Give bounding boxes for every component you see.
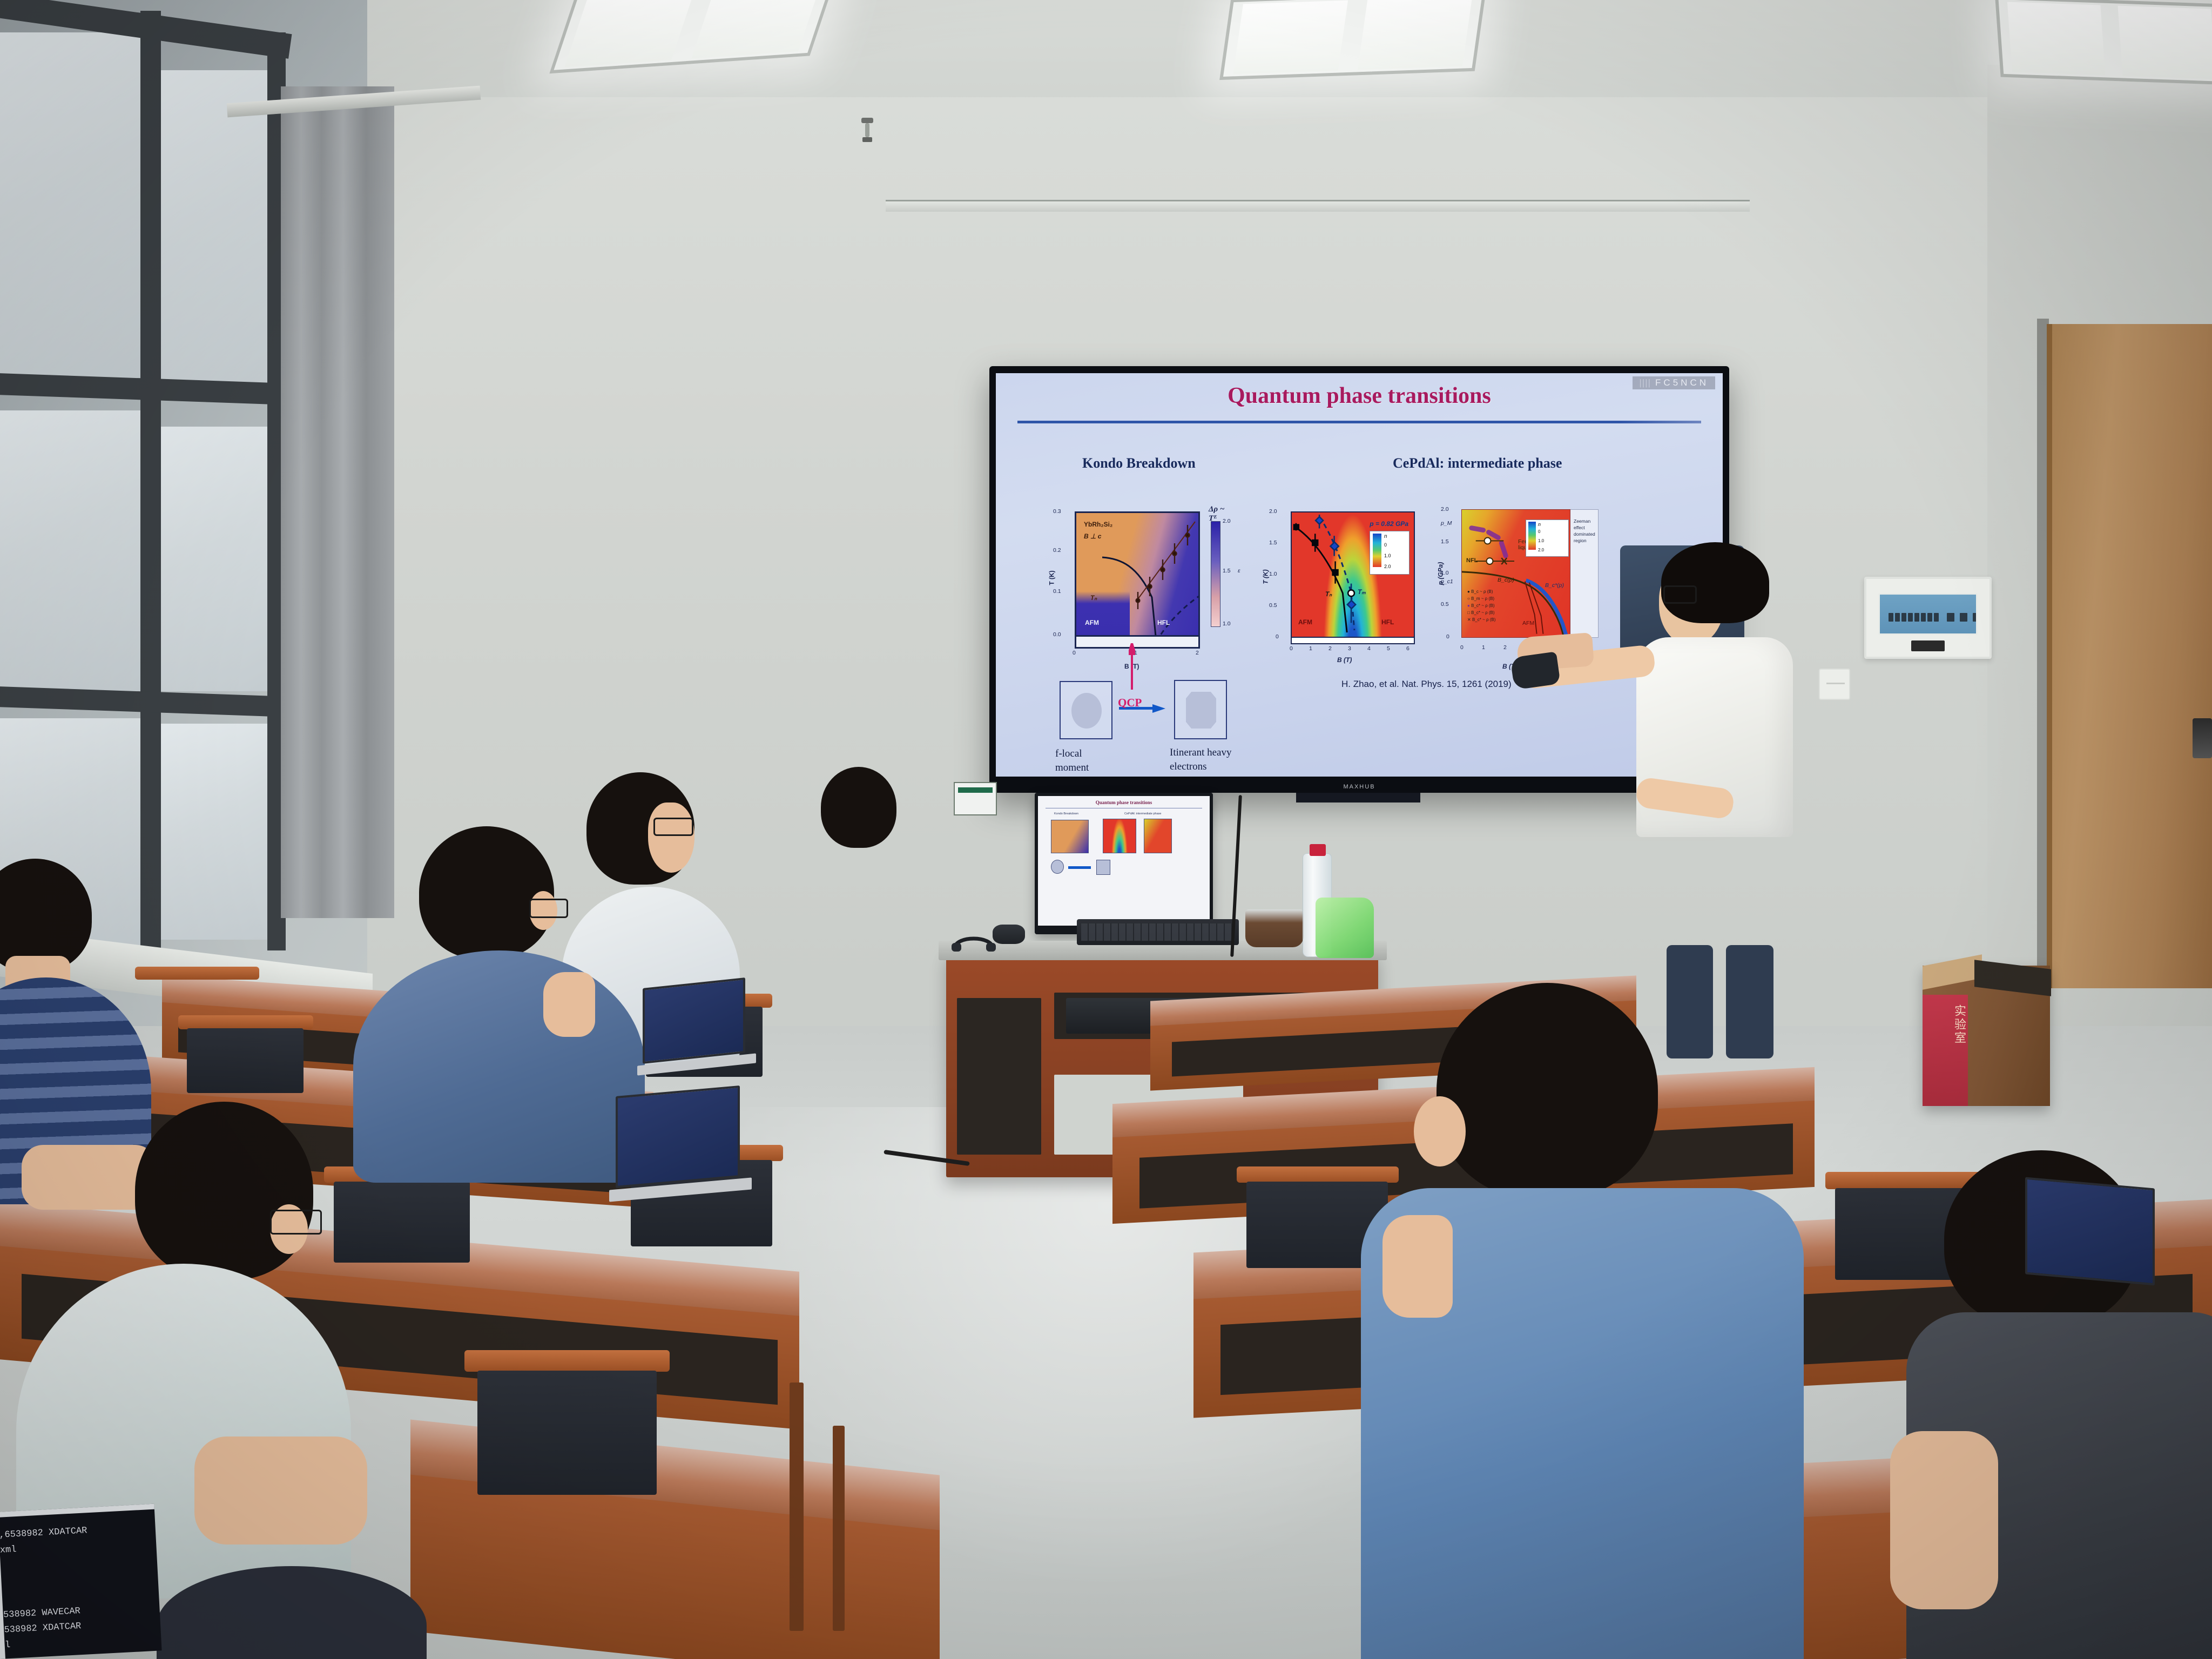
- credenza-cubby: [957, 998, 1041, 1155]
- kondo-ytick: 0.3: [1053, 508, 1061, 515]
- monitor-title-rule: [1046, 808, 1202, 808]
- monitor-section-right: CePdAl: intermediate phase: [1124, 812, 1161, 815]
- slide-title-rule: [1017, 421, 1701, 423]
- kondo-colorbar: [1211, 521, 1220, 627]
- audience-head: [419, 826, 554, 959]
- terminal-line: ,6538982 XDATCAR: [0, 1621, 82, 1636]
- zeeman-legend-entry: B_m ~ ρ (B): [1471, 596, 1494, 601]
- itinerant-electron-shape: [1186, 692, 1216, 729]
- zeeman-ytick: 0.5: [1441, 601, 1449, 608]
- zeeman-afm-label: AFM: [1522, 620, 1534, 626]
- cepdal-ytick: 1.5: [1269, 539, 1277, 546]
- ceiling-trim: [886, 200, 1750, 212]
- wall-notice: [954, 782, 997, 815]
- monitor-slide-title: Quantum phase transitions: [1038, 800, 1210, 805]
- kondo-heatmap: YbRh₂Si₂ B ⊥ c Tₙ AFM HFL: [1075, 511, 1200, 637]
- cepdal-xtick: 4: [1367, 645, 1371, 652]
- cepdal-xtick: 1: [1309, 645, 1312, 652]
- zeeman-legend-entry: B_c* ~ ρ (B): [1471, 603, 1494, 608]
- zeeman-ytick: 0: [1446, 633, 1449, 640]
- slide-citation: H. Zhao, et al. Nat. Phys. 15, 1261 (201…: [1341, 679, 1512, 690]
- av-monitor[interactable]: Quantum phase transitions Kondo Breakdow…: [1035, 793, 1213, 934]
- kondo-afm-label: AFM: [1085, 619, 1099, 626]
- kondo-compound-label: YbRh₂Si₂: [1084, 521, 1112, 528]
- monitor-section-left: Kondo Breakdown: [1054, 812, 1078, 815]
- zeeman-bcstar-curve-label: B_c*(p): [1545, 582, 1564, 589]
- zeeman-legend-entry: B_c* ~ ρ (B): [1471, 610, 1494, 615]
- cepdal-afm-label: AFM: [1298, 618, 1312, 626]
- kondo-ytick: 0.2: [1053, 547, 1061, 554]
- kondo-plot-base: [1075, 637, 1200, 649]
- display-wall-mount: [1296, 793, 1420, 802]
- mouse[interactable]: [993, 925, 1025, 944]
- monitor-figure-cepdal: [1103, 819, 1136, 853]
- presentation-display[interactable]: ||||FC5NCN Quantum phase transitions Kon…: [989, 366, 1729, 793]
- terminal-line: xml: [0, 1640, 11, 1651]
- audience-ear: [1414, 1096, 1466, 1166]
- monitor-schematic-right: [1096, 860, 1110, 875]
- flocal-moment-label: f-local moment: [1055, 747, 1089, 775]
- monitor-schematic-left: [1051, 860, 1064, 874]
- flocal-moment-shape: [1071, 693, 1102, 729]
- kondo-ytick: 0.0: [1053, 631, 1061, 638]
- zeeman-ytick: 2.0: [1441, 506, 1449, 512]
- cepdal-xtick: 0: [1290, 645, 1293, 652]
- presenter-hair: [1661, 542, 1769, 623]
- section-label-cepdal: CePdAl: intermediate phase: [1393, 455, 1562, 471]
- figure-kondo-breakdown: YbRh₂Si₂ B ⊥ c Tₙ AFM HFL 0.3 0.2 0.1 0.…: [1049, 508, 1227, 670]
- itinerant-line1: Itinerant heavy: [1170, 746, 1231, 760]
- cepdal-xtick: 2: [1328, 645, 1332, 652]
- slide-canvas: ||||FC5NCN Quantum phase transitions Kon…: [996, 373, 1723, 777]
- kondo-cbar-tick: 2.0: [1223, 518, 1231, 524]
- cepdal-pressure-label: p = 0.82 GPa: [1370, 520, 1408, 528]
- flocal-line2: moment: [1055, 761, 1089, 775]
- box-label: 实验室: [1923, 995, 1968, 1106]
- zeeman-heatmap: NFL Fermi liquid AFM n 0 1.0 2.0 ● B_c ~…: [1461, 509, 1570, 638]
- panel-nameplate: [1911, 640, 1945, 651]
- terminal-line: n,xml: [0, 1545, 17, 1556]
- zeeman-ylabel: p (GPa): [1437, 562, 1444, 585]
- itinerant-line2: electrons: [1170, 760, 1231, 774]
- zeeman-marker-legend: ● B_c ~ ρ (B) ○ B_m ~ ρ (B) ● B_c* ~ ρ (…: [1467, 588, 1495, 623]
- audience-hand: [543, 972, 595, 1037]
- cepdal-ytick: 0: [1276, 633, 1279, 640]
- chair-leg: [790, 1382, 804, 1631]
- cepdal-tm-label: Tₘ: [1358, 588, 1366, 596]
- qcp-arrow-icon: [1129, 643, 1135, 690]
- ceiling-light-panel: [1995, 0, 2212, 85]
- electrical-panel[interactable]: [1864, 577, 1992, 659]
- cepdal-xtick: 3: [1348, 645, 1351, 652]
- presentation-clicker: [1510, 651, 1561, 690]
- kondo-hfl-label: HFL: [1157, 619, 1170, 626]
- slide-title: Quantum phase transitions: [996, 383, 1723, 409]
- zeeman-region-note: Zeeman effect dominated region: [1574, 518, 1599, 544]
- cepdal-xtick: 6: [1406, 645, 1410, 652]
- kondo-tn-label: Tₙ: [1090, 594, 1097, 602]
- monitor-figure-zeeman: [1144, 819, 1172, 853]
- terminal-line: ,6538982 WAVECAR: [0, 1606, 80, 1621]
- zeeman-xtick: 0: [1460, 644, 1464, 651]
- sprinkler-head-icon: [861, 118, 873, 143]
- ceiling-light-panel: [1219, 0, 1486, 80]
- audience-arm: [1890, 1431, 1998, 1609]
- zeeman-ytick-pm: p_M: [1441, 520, 1452, 527]
- audience-hand: [1382, 1215, 1453, 1318]
- cepdal-ytick: 0.5: [1269, 602, 1277, 609]
- zeeman-xtick: 2: [1503, 644, 1507, 651]
- audience-glasses: [270, 1210, 322, 1235]
- monitor-screen: Quantum phase transitions Kondo Breakdow…: [1038, 796, 1210, 926]
- kondo-ytick: 0.1: [1053, 588, 1061, 595]
- qcp-label: QCP: [1118, 696, 1142, 710]
- zeeman-legend-entry: B_c ~ ρ (B): [1471, 589, 1493, 594]
- monitor-figure-kondo: [1051, 820, 1089, 853]
- seminar-room-photo: ||||FC5NCN Quantum phase transitions Kon…: [0, 0, 2212, 1659]
- audience-member: [821, 767, 896, 864]
- cepdal-colorbar-legend: n 0 1.0 2.0: [1370, 531, 1410, 575]
- audience-member: [1350, 983, 1825, 1659]
- zeeman-bc-curve-label: B_c(p): [1498, 577, 1514, 583]
- cepdal-tn-label: Tₙ: [1325, 590, 1332, 598]
- bottle-cap: [1310, 844, 1326, 856]
- zeeman-ytick: 1.5: [1441, 538, 1449, 545]
- cepdal-ylabel: T (K): [1262, 569, 1270, 584]
- kondo-curves: [1102, 516, 1200, 637]
- headphones-icon: [950, 930, 997, 952]
- display-brand-label: MAXHUB: [1343, 784, 1375, 790]
- audience-head: [821, 767, 896, 848]
- chair-leg: [833, 1426, 845, 1631]
- keyboard[interactable]: [1077, 919, 1239, 945]
- kondo-ylabel: T (K): [1048, 570, 1056, 585]
- audience-glasses: [529, 899, 568, 918]
- laptop-screen: [2025, 1177, 2155, 1286]
- cepdal-xtick: 5: [1387, 645, 1390, 652]
- section-label-kondo: Kondo Breakdown: [1082, 455, 1196, 471]
- cepdal-plot-base: [1291, 638, 1415, 644]
- audience-head: [0, 859, 92, 972]
- room-door[interactable]: [2047, 324, 2212, 988]
- cepdal-heatmap: p = 0.82 GPa n 0 1.0 2.0 Tₙ Tₘ AFM HFL: [1291, 511, 1415, 638]
- terminal-line: bs,6538982 XDATCAR: [0, 1526, 87, 1541]
- door-handle[interactable]: [2193, 718, 2212, 758]
- kondo-cbar-symbol: ε: [1238, 568, 1240, 574]
- zeeman-legend-entry: B_c* ~ ρ (B): [1472, 617, 1495, 622]
- audience-head: [1437, 983, 1658, 1199]
- cepdal-ytick: 1.0: [1269, 571, 1277, 577]
- laptop-screen: [616, 1085, 740, 1188]
- green-plastic-bag: [1316, 898, 1374, 958]
- cepdal-hfl-label: HFL: [1381, 618, 1394, 626]
- flocal-line1: f-local: [1055, 747, 1089, 761]
- cepdal-ytick: 2.0: [1269, 508, 1277, 515]
- presenter-glasses: [1663, 585, 1697, 604]
- figure-cepdal: p = 0.82 GPa n 0 1.0 2.0 Tₙ Tₘ AFM HFL 2…: [1266, 508, 1428, 670]
- itinerant-electrons-label: Itinerant heavy electrons: [1170, 746, 1231, 774]
- zeeman-colorbar-legend: n 0 1.0 2.0: [1526, 520, 1569, 557]
- cepdal-xlabel: B (T): [1337, 656, 1352, 664]
- kondo-xtick: 2: [1196, 650, 1199, 656]
- breaker-window: [1878, 593, 1978, 635]
- monitor-arrow: [1068, 866, 1091, 869]
- snack-bowl: [1245, 909, 1304, 947]
- zeeman-nfl-label: NFL: [1466, 557, 1478, 564]
- kondo-cbar-tick: 1.5: [1223, 568, 1231, 574]
- kondo-xtick: 0: [1073, 650, 1076, 656]
- window-curtain: [281, 86, 394, 918]
- zeeman-xtick: 1: [1482, 644, 1485, 651]
- kondo-field-orientation: B ⊥ c: [1084, 532, 1101, 540]
- audience-arm: [194, 1437, 367, 1545]
- kondo-cbar-tick: 1.0: [1223, 621, 1231, 627]
- laptop-screen: [643, 977, 745, 1064]
- foreground-laptop-terminal[interactable]: bs,6538982 XDATCAR n,xml ,6538982 WAVECA…: [0, 1504, 162, 1659]
